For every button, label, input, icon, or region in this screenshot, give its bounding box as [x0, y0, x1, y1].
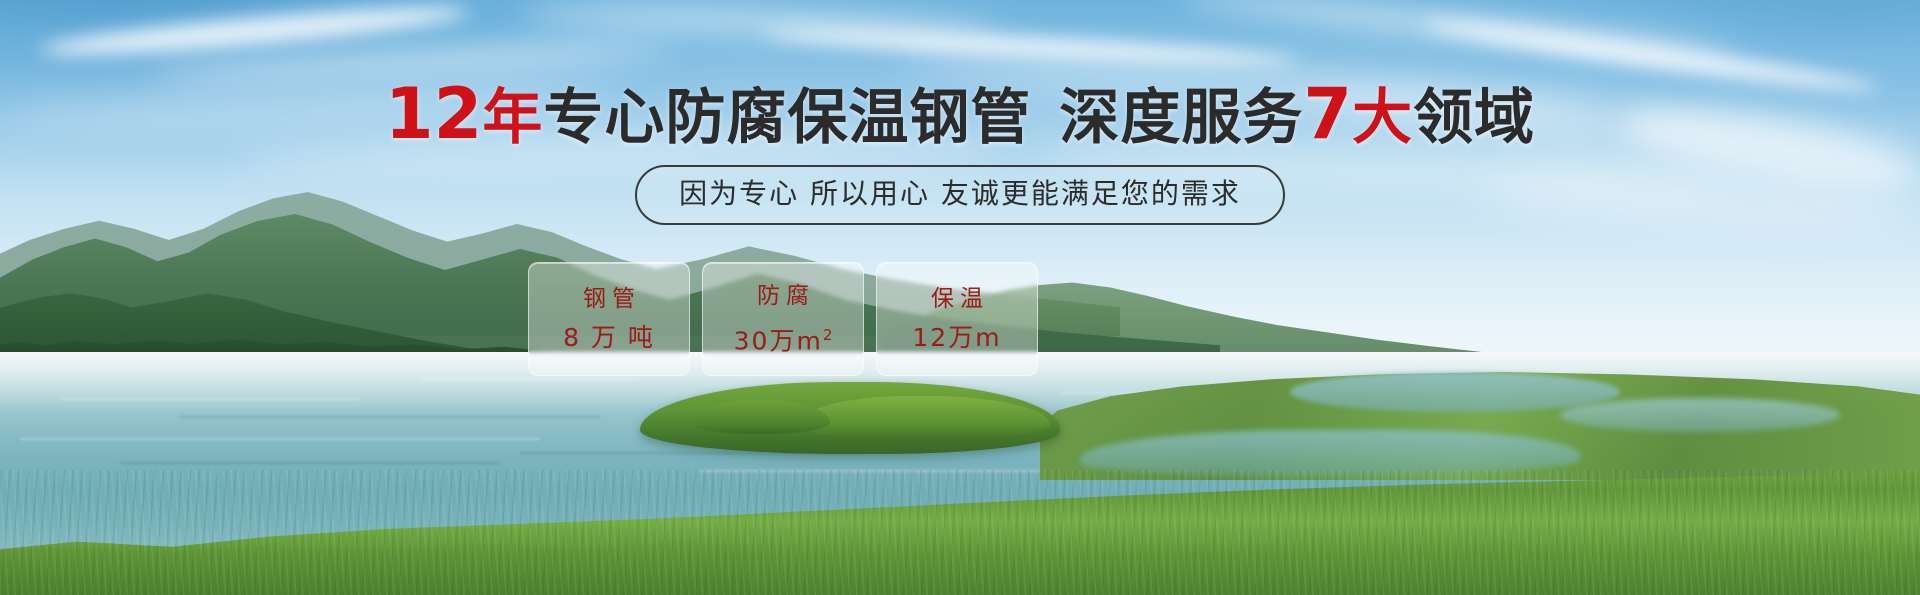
stat-card-value: 8 万 吨 [563, 324, 655, 352]
stat-card-insulation[interactable]: 保温 12万m [876, 262, 1038, 376]
stat-card-value-main: 30万m [734, 326, 823, 355]
stat-card-group: 钢管 8 万 吨 防腐 30万m2 保温 12万m [528, 262, 1048, 374]
stat-card-title: 防腐 [751, 283, 815, 309]
stat-card-value: 30万m2 [734, 321, 833, 355]
stat-card-title: 钢管 [577, 286, 641, 312]
stat-card-anticorrosion[interactable]: 防腐 30万m2 [702, 262, 864, 376]
stat-card-value-superscript: 2 [823, 326, 833, 344]
banner-headline: 12年专心防腐保温钢管深度服务7大领域 [0, 82, 1920, 150]
headline-fields-text: 领域 [1413, 83, 1535, 153]
banner-content: 12年专心防腐保温钢管深度服务7大领域 因为专心 所以用心 友诚更能满足您的需求… [0, 0, 1920, 595]
stat-card-value: 12万m [912, 324, 1001, 352]
stat-card-value-main: 8 万 吨 [563, 323, 655, 352]
headline-main-text: 专心防腐保温钢管 [543, 83, 1031, 153]
headline-years-number: 12 [385, 73, 482, 155]
stat-card-steel-pipe[interactable]: 钢管 8 万 吨 [528, 262, 690, 376]
hero-banner: 12年专心防腐保温钢管深度服务7大领域 因为专心 所以用心 友诚更能满足您的需求… [0, 0, 1920, 595]
headline-years-unit: 年 [482, 83, 543, 153]
banner-subtitle-wrapper: 因为专心 所以用心 友诚更能满足您的需求 [0, 165, 1920, 225]
headline-fields-number: 7 [1303, 73, 1352, 155]
headline-service-text: 深度服务 [1059, 83, 1303, 153]
stat-card-title: 保温 [925, 286, 989, 312]
headline-fields-unit: 大 [1352, 83, 1413, 153]
stat-card-value-main: 12万m [912, 323, 1001, 352]
banner-subtitle-pill: 因为专心 所以用心 友诚更能满足您的需求 [635, 165, 1285, 225]
